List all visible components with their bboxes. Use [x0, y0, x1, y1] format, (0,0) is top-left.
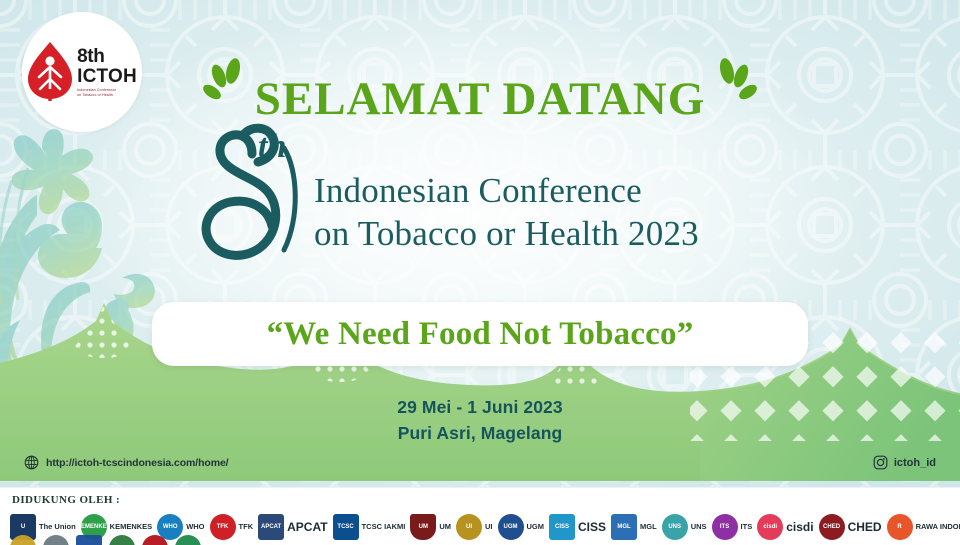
sponsor-name: KEMENKES: [110, 523, 153, 531]
sponsor-name: UGM: [527, 523, 545, 531]
sponsor-logo-mark: 6L: [43, 535, 69, 545]
conference-title: Indonesian Conference on Tobacco or Heal…: [314, 170, 699, 255]
sponsor-logo-mark: APCAT: [258, 514, 284, 540]
sponsor-strip: DIDUKUNG OLEH : UThe UnionKEMENKESKEMENK…: [0, 487, 960, 545]
sponsor-logo-mark: UGM: [498, 514, 524, 540]
event-venue: Puri Asri, Magelang: [0, 420, 960, 446]
sponsor-name: UNS: [691, 523, 707, 531]
sponsor-item: 6L: [43, 532, 69, 545]
sponsor-name: WHO: [186, 523, 204, 531]
sponsor-name: TCSC IAKMI: [362, 523, 406, 531]
sponsor-name: CISS: [578, 521, 606, 534]
sponsor-logo-row-secondary: UNS6LIDIPPTIMUBPJS: [10, 538, 954, 545]
event-dates: 29 Mei - 1 Juni 2023: [0, 394, 960, 420]
sponsor-name: CHED: [848, 521, 882, 534]
sponsor-logo-mark: UNS: [10, 535, 36, 545]
sponsor-logo-mark: UI: [456, 514, 482, 540]
sponsor-item: BPJS: [175, 532, 201, 545]
sponsor-logo-mark: CISS: [549, 514, 575, 540]
sponsor-logo-mark: TFK: [210, 514, 236, 540]
website-link[interactable]: http://ictoh-tcscindonesia.com/home/: [24, 455, 229, 470]
sponsor-name: TFK: [239, 523, 254, 531]
instagram-icon: [873, 455, 888, 470]
sponsor-name: APCAT: [287, 521, 327, 534]
conference-title-line1: Indonesian Conference: [314, 170, 699, 213]
sponsor-logo-mark: UM: [410, 514, 436, 540]
sponsor-item: UNS: [10, 532, 36, 545]
sponsor-logo-mark: PPTI: [109, 535, 135, 545]
ordinal-eight-graphic: th: [196, 122, 308, 282]
sponsor-logo-mark: UNS: [662, 514, 688, 540]
welcome-heading-row: SELAMAT DATANG: [0, 58, 960, 123]
leaf-burst-left-icon: [203, 58, 249, 110]
conference-title-block: th Indonesian Conference on Tobacco or H…: [196, 122, 699, 282]
sponsor-logo-mark: BPJS: [175, 535, 201, 545]
sponsor-name: cisdi: [786, 521, 813, 534]
sponsor-logo-mark: IDI: [76, 535, 102, 545]
theme-text: “We Need Food Not Tobacco”: [267, 316, 694, 353]
sponsor-name: UI: [485, 523, 493, 531]
sponsor-logo-mark: cisdi: [757, 514, 783, 540]
leaf-burst-right-icon: [711, 58, 757, 110]
ordinal-suffix: th: [258, 128, 286, 166]
sponsor-label: DIDUKUNG OLEH :: [12, 494, 120, 506]
sponsor-item: PPTI: [109, 532, 135, 545]
sponsor-name: MGL: [640, 523, 657, 531]
instagram-handle: ictoh_id: [894, 457, 936, 469]
sponsor-name: RAWA INDONESIA: [916, 523, 960, 531]
sponsor-name: UM: [439, 523, 451, 531]
sponsor-logo-mark: ITS: [712, 514, 738, 540]
theme-banner: “We Need Food Not Tobacco”: [152, 302, 808, 366]
sponsor-logo-mark: R: [887, 514, 913, 540]
sponsor-name: ITS: [741, 523, 753, 531]
welcome-text: SELAMAT DATANG: [255, 76, 706, 123]
conference-banner: 8th ICTOH Indonesian Conferenceon Tobacc…: [0, 0, 960, 545]
sponsor-item: MU: [142, 532, 168, 545]
conference-title-line2: on Tobacco or Health 2023: [314, 213, 699, 256]
sponsor-logo-mark: MGL: [611, 514, 637, 540]
sponsor-item: IDI: [76, 532, 102, 545]
sponsor-logo-mark: TCSC: [333, 514, 359, 540]
website-url: http://ictoh-tcscindonesia.com/home/: [46, 457, 229, 469]
instagram-link[interactable]: ictoh_id: [873, 455, 936, 470]
event-info: 29 Mei - 1 Juni 2023 Puri Asri, Magelang: [0, 394, 960, 447]
sponsor-logo-mark: MU: [142, 535, 168, 545]
globe-icon: [24, 455, 39, 470]
sponsor-name: The Union: [39, 523, 76, 531]
sponsor-logo-mark: CHED: [819, 514, 845, 540]
